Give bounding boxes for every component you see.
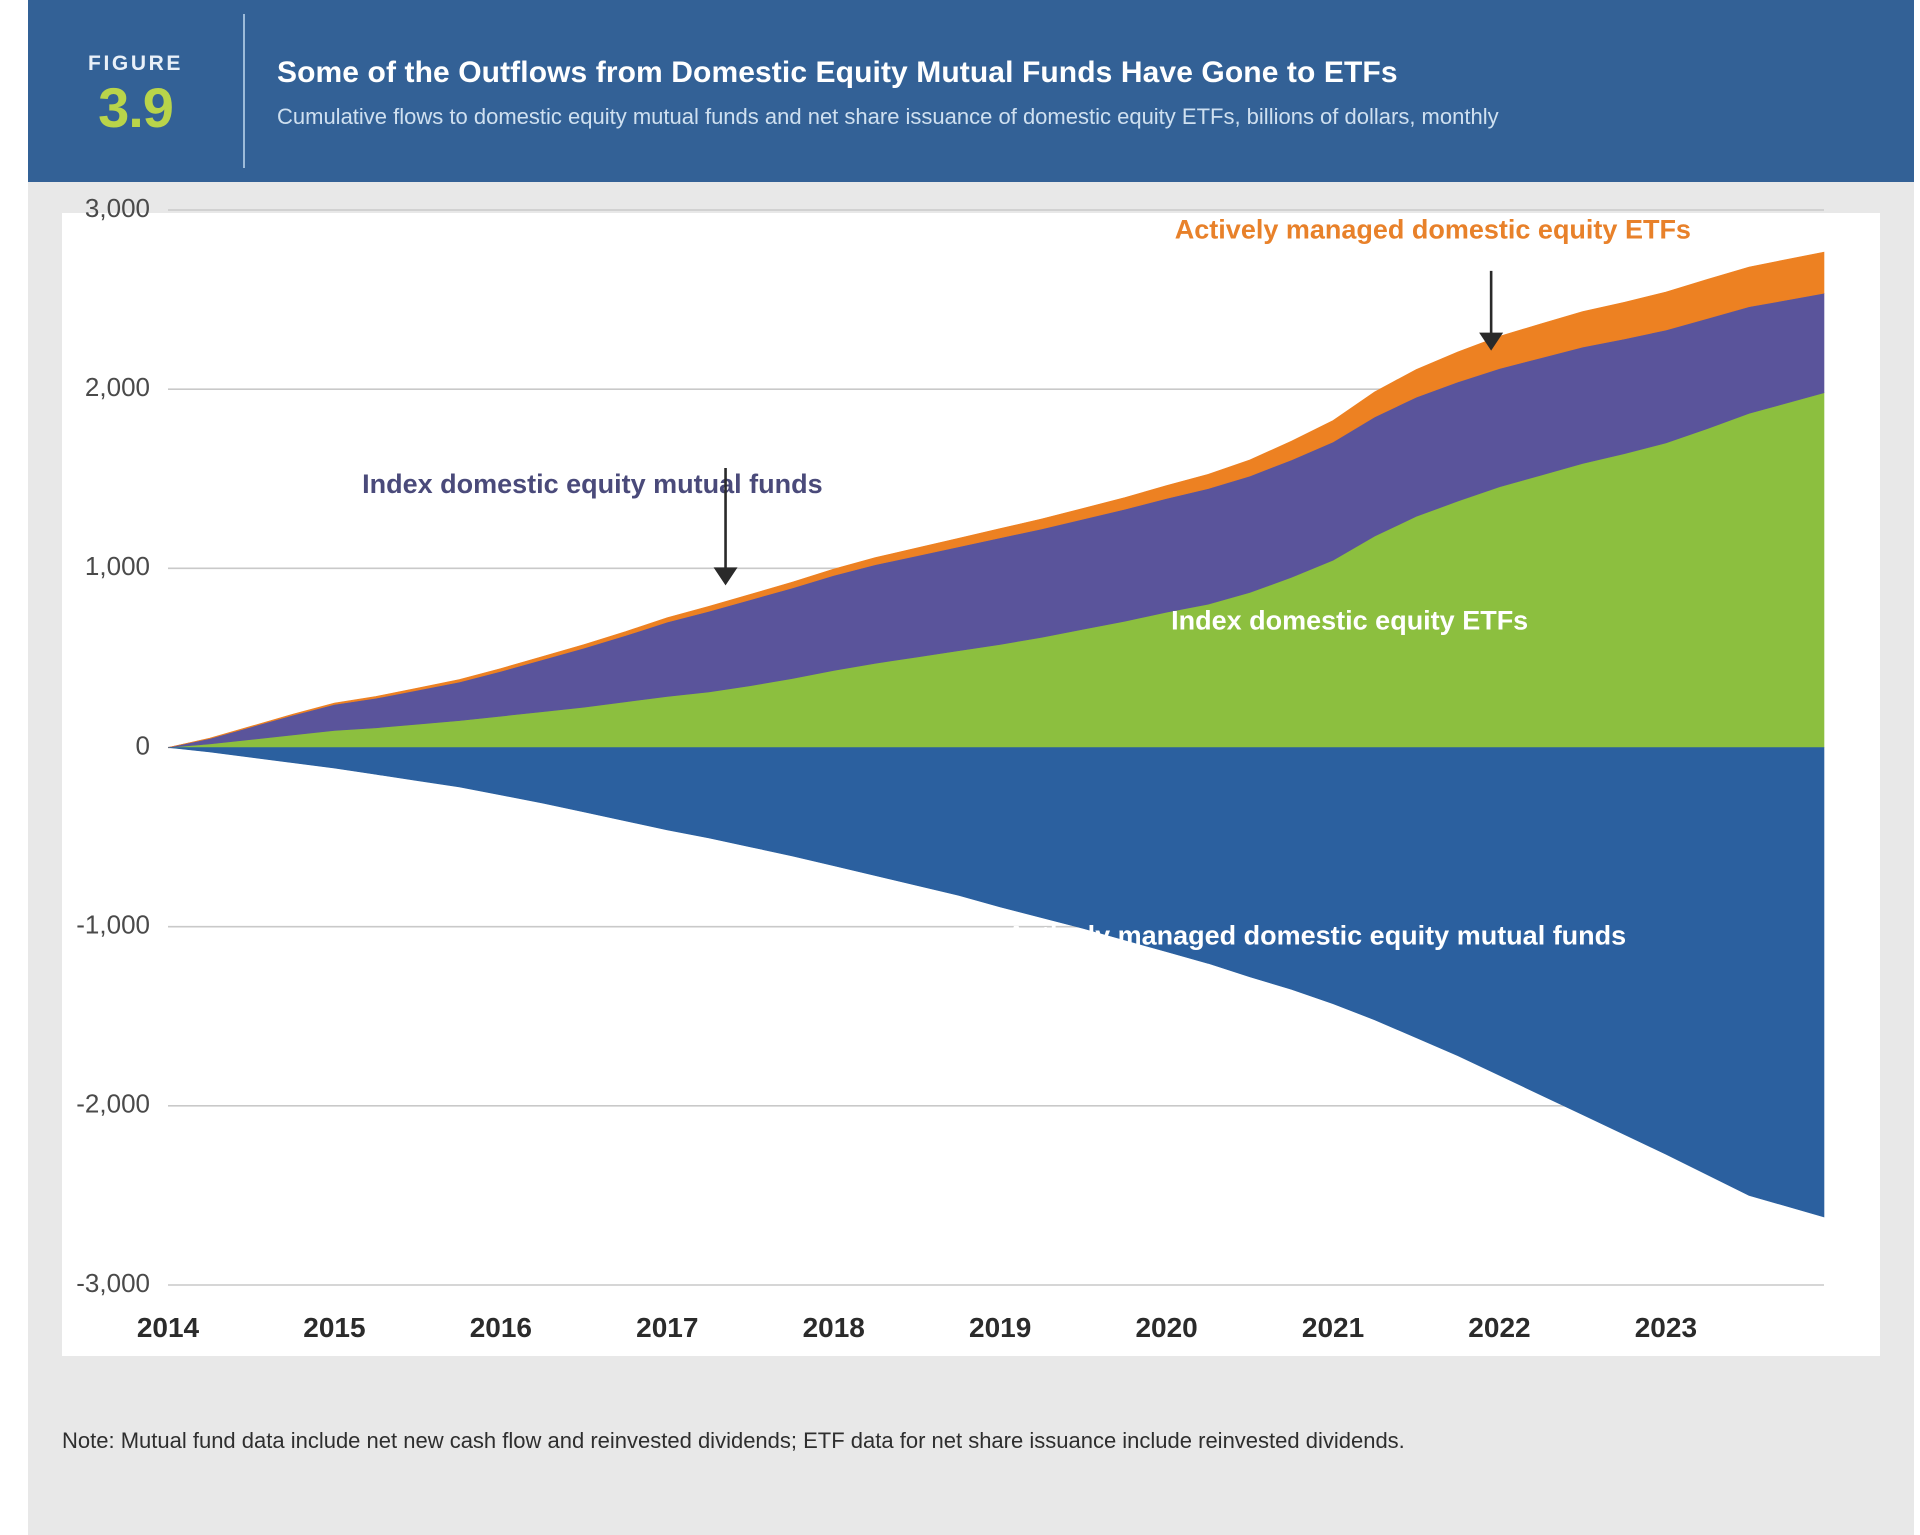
- series-label-index-domestic-equity-etfs: Index domestic equity ETFs: [1171, 605, 1528, 635]
- x-tick-label: 2014: [137, 1312, 200, 1343]
- x-tick-label: 2016: [470, 1312, 532, 1343]
- x-tick-label: 2015: [303, 1312, 365, 1343]
- x-tick-label: 2022: [1468, 1312, 1530, 1343]
- series-areas-group: [168, 252, 1824, 1217]
- figure-note: Note: Mutual fund data include net new c…: [62, 1424, 1782, 1458]
- x-tick-label: 2018: [803, 1312, 865, 1343]
- y-tick-label: 1,000: [85, 551, 150, 581]
- figure-number-block: FIGURE 3.9: [28, 0, 243, 182]
- figure-number-value: 3.9: [98, 80, 173, 136]
- y-tick-label: 0: [136, 730, 150, 760]
- annotation-arrow-head: [714, 567, 738, 585]
- y-tick-label: -1,000: [76, 910, 150, 940]
- series-label-index-domestic-equity-mutual-funds: Index domestic equity mutual funds: [362, 469, 823, 499]
- header-text-block: Some of the Outflows from Domestic Equit…: [245, 0, 1914, 182]
- y-axis-tick-labels: 3,0002,0001,0000-1,000-2,000-3,000: [76, 193, 150, 1298]
- x-tick-label: 2017: [636, 1312, 698, 1343]
- series-label-actively-managed-domestic-equity-mutual-funds: Actively managed domestic equity mutual …: [1007, 921, 1627, 951]
- figure-title: Some of the Outflows from Domestic Equit…: [277, 55, 1894, 90]
- series-area-actively-managed-domestic-equity-mutual-funds: [168, 748, 1824, 1217]
- x-tick-label: 2019: [969, 1312, 1031, 1343]
- y-tick-label: 2,000: [85, 372, 150, 402]
- x-tick-label: 2023: [1635, 1312, 1697, 1343]
- figure-header: FIGURE 3.9 Some of the Outflows from Dom…: [28, 0, 1914, 182]
- x-tick-label: 2021: [1302, 1312, 1364, 1343]
- series-label-actively-managed-domestic-equity-etfs: Actively managed domestic equity ETFs: [1175, 215, 1691, 245]
- area-chart: 3,0002,0001,0000-1,000-2,000-3,000 20142…: [28, 182, 1914, 1535]
- y-tick-label: -3,000: [76, 1268, 150, 1298]
- x-tick-label: 2020: [1135, 1312, 1197, 1343]
- y-tick-label: -2,000: [76, 1089, 150, 1119]
- x-axis-tick-labels: 2014201520162017201820192020202120222023: [137, 1312, 1697, 1343]
- y-tick-label: 3,000: [85, 193, 150, 223]
- figure-subtitle: Cumulative flows to domestic equity mutu…: [277, 102, 1807, 131]
- figure-kicker-label: FIGURE: [88, 53, 183, 74]
- figure-container: FIGURE 3.9 Some of the Outflows from Dom…: [0, 0, 1920, 1535]
